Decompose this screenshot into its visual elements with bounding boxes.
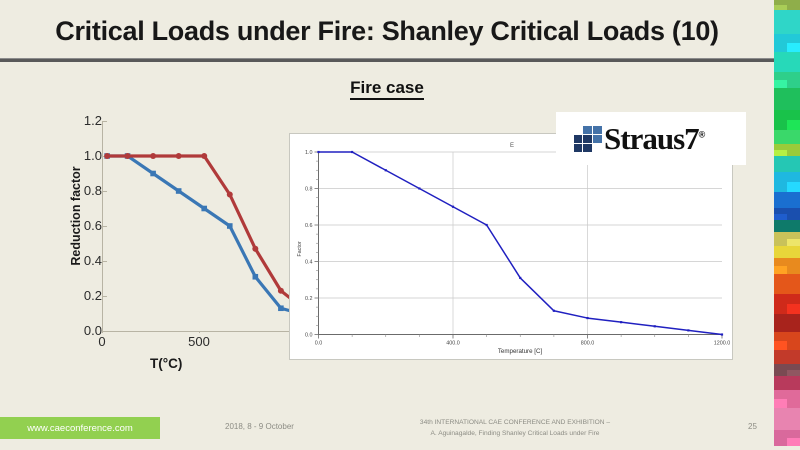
decorative-mosaic-strip [774, 0, 800, 450]
mosaic-tile [787, 239, 800, 246]
straus7-chart-x-tick-labels: 0.0400.0800.01200.0 [315, 341, 731, 347]
data-point [227, 192, 233, 198]
data-point [687, 329, 689, 331]
title-bar: Critical Loads under Fire: Shanley Criti… [0, 16, 774, 64]
data-point [125, 153, 131, 159]
data-point [201, 153, 207, 159]
mosaic-tile [774, 274, 800, 294]
title-divider [0, 58, 774, 62]
mosaic-tile [787, 304, 800, 314]
mosaic-tile [774, 220, 800, 232]
main-chart-xtick-500: 500 [179, 334, 219, 349]
straus7-y-axis-label: Factor [297, 241, 303, 256]
data-point [150, 171, 156, 177]
data-point [586, 317, 588, 319]
data-point [385, 169, 387, 171]
straus7-chart-svg: 0.00.20.40.60.81.0 0.0400.0800.01200.0 T… [290, 134, 732, 359]
straus7-wordmark-text: Straus7 [604, 121, 699, 156]
straus7-logo: Straus7® [556, 112, 746, 165]
mosaic-tile [774, 266, 787, 274]
mosaic-tile [774, 350, 800, 364]
mosaic-tile [774, 408, 800, 430]
mosaic-tile [774, 314, 800, 332]
straus7-chart-title: E [510, 143, 514, 149]
straus7-chart-tickmarks [315, 152, 723, 339]
main-chart-xtick-0: 0 [82, 334, 122, 349]
data-point [278, 305, 284, 311]
main-chart-ytick-0_4: 0.4 [62, 253, 102, 268]
data-point [201, 206, 207, 212]
main-chart-ytick-0_2: 0.2 [62, 288, 102, 303]
mosaic-tile [774, 80, 787, 88]
main-chart-x-axis-label: T(°C) [150, 356, 182, 371]
data-point [176, 188, 182, 194]
main-chart-y-ticks [103, 122, 108, 297]
mosaic-tile [774, 52, 800, 72]
registered-trademark-icon: ® [699, 130, 705, 140]
straus7-ytick-label: 1.0 [305, 150, 313, 156]
slide-canvas: Critical Loads under Fire: Shanley Criti… [0, 0, 800, 450]
mosaic-tile [774, 376, 800, 390]
data-point [654, 325, 656, 327]
main-chart-ytick-1_2: 1.2 [62, 113, 102, 128]
straus7-xtick-label: 800.0 [581, 341, 595, 347]
mosaic-tile [774, 341, 787, 350]
footer-date: 2018, 8 - 9 October [225, 422, 294, 431]
mosaic-tile [787, 43, 800, 52]
mosaic-tile [774, 399, 787, 408]
data-point [150, 153, 156, 159]
straus7-factor-chart: 0.00.20.40.60.81.0 0.0400.0800.01200.0 T… [289, 133, 733, 360]
data-point [227, 223, 233, 229]
mosaic-tile [774, 10, 800, 34]
straus7-ytick-label: 0.0 [305, 333, 313, 339]
straus7-xtick-label: 0.0 [315, 341, 323, 347]
straus7-ytick-label: 0.8 [305, 187, 313, 193]
mosaic-tile [787, 182, 800, 192]
subtitle: Fire case [0, 78, 774, 98]
mosaic-tile [774, 88, 800, 110]
data-point [351, 151, 353, 153]
mosaic-tile [774, 156, 800, 172]
subtitle-label: Fire case [350, 78, 424, 100]
data-point [620, 321, 622, 323]
data-point [486, 224, 488, 226]
straus7-ytick-label: 0.4 [305, 260, 313, 266]
mosaic-tile [774, 130, 800, 144]
straus7-x-axis-label: Temperature [C] [498, 348, 543, 355]
main-chart-ytick-0_6: 0.6 [62, 218, 102, 233]
data-point [104, 153, 110, 159]
main-chart-ytick-0_8: 0.8 [62, 183, 102, 198]
data-point [176, 153, 182, 159]
straus7-wordmark: Straus7® [604, 123, 704, 154]
straus7-chart-gridlines [319, 152, 723, 335]
straus7-chart-series [317, 151, 723, 336]
footer-website-label: www.caeconference.com [27, 423, 133, 434]
main-chart-ytick-1_0: 1.0 [62, 148, 102, 163]
straus7-ytick-label: 0.6 [305, 223, 313, 229]
data-point [252, 246, 258, 252]
mosaic-tile [774, 192, 800, 208]
straus7-xtick-label: 400.0 [446, 341, 460, 347]
data-point [721, 333, 723, 335]
straus7-grid-mark-icon [574, 126, 602, 152]
mosaic-tile [774, 246, 800, 258]
data-point [519, 277, 521, 279]
data-point [418, 187, 420, 189]
mosaic-tile [787, 438, 800, 446]
footer-conference-line1: 34th INTERNATIONAL CAE CONFERENCE AND EX… [380, 418, 650, 429]
straus7-ytick-label: 0.2 [305, 296, 313, 302]
page-title: Critical Loads under Fire: Shanley Criti… [0, 16, 774, 47]
data-point [553, 310, 555, 312]
straus7-xtick-label: 1200.0 [714, 341, 731, 347]
mosaic-tile [787, 120, 800, 130]
footer-website-badge[interactable]: www.caeconference.com [0, 417, 160, 439]
footer-conference-line2: A. Aguinagalde, Finding Shanley Critical… [380, 429, 650, 440]
series-line-factor [319, 152, 723, 335]
data-point [253, 274, 259, 280]
data-point [317, 151, 319, 153]
data-point [278, 288, 284, 294]
data-point [452, 206, 454, 208]
footer-conference-info: 34th INTERNATIONAL CAE CONFERENCE AND EX… [380, 418, 650, 440]
footer-page-number: 25 [748, 422, 757, 431]
straus7-chart-y-tick-labels: 0.00.20.40.60.81.0 [305, 150, 313, 339]
